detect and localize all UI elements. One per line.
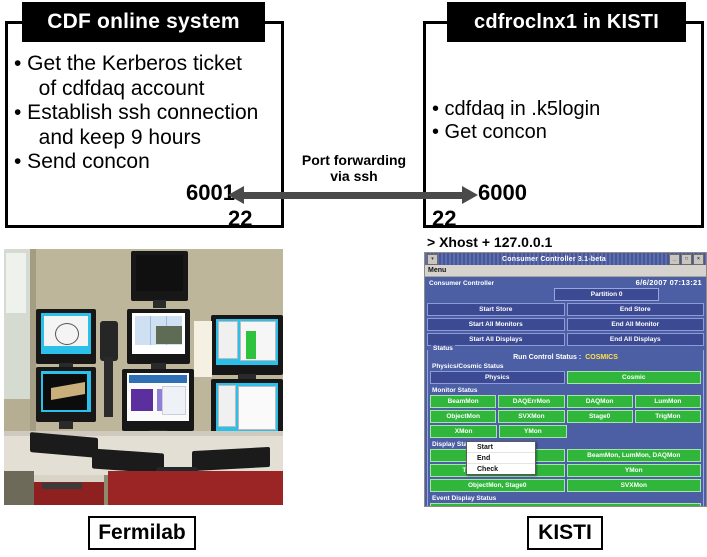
list-item: • Get concon	[432, 121, 692, 144]
right-ssh-port-number: 22	[432, 206, 456, 232]
monitor-grid-row: BeamMon DAQErrMon DAQMon LumMon	[430, 395, 701, 408]
end-all-monitor-button[interactable]: End All Monitor	[567, 318, 705, 331]
cdf-online-system-bullets: • Get the Kerberos ticket of cdfdaq acco…	[14, 52, 276, 175]
menubar[interactable]: Menu	[425, 265, 706, 277]
start-store-button[interactable]: Start Store	[427, 303, 565, 316]
cdfroclnx1-kisti-title: cdfroclnx1 in KISTI	[447, 2, 686, 42]
monitor-grid-empty	[569, 425, 634, 438]
physics-button[interactable]: Physics	[430, 371, 565, 384]
connector-arrow-shaft	[243, 192, 465, 199]
run-control-value: COSMICS	[585, 354, 618, 361]
cdfroclnx1-kisti-bullets: • cdfdaq in .k5login • Get concon	[432, 98, 692, 145]
evd-button[interactable]: EVD	[430, 503, 701, 507]
monitor-objectmon-button[interactable]: ObjectMon	[430, 410, 496, 423]
control-row-store: Start Store End Store	[427, 303, 704, 316]
partition-row: Partition 0	[427, 288, 704, 301]
left-ssh-port-number: 22	[228, 206, 252, 232]
window-menu-icon[interactable]: ▾	[427, 254, 438, 265]
connector-arrow-head-left-icon	[228, 186, 244, 204]
monitor-grid-row: ObjectMon SVXMon Stage0 TrigMon	[430, 410, 701, 423]
monitor-trigmon-button[interactable]: TrigMon	[635, 410, 701, 423]
partition-spacer	[427, 288, 554, 301]
window-title: Consumer Controller 3.1-beta	[440, 256, 668, 263]
control-room-photo	[4, 249, 283, 505]
monitor-xmon-button[interactable]: XMon	[430, 425, 497, 438]
caption-kisti: KISTI	[527, 516, 603, 550]
right-port-number: 6000	[478, 180, 527, 206]
port-forwarding-label: Port forwarding via ssh	[288, 152, 420, 184]
status-group-title: Status	[431, 345, 455, 352]
event-display-row: EVD	[430, 503, 701, 507]
display-beammon-lummon-daqmon-button[interactable]: BeamMon, LumMon, DAQMon	[567, 449, 702, 462]
connector-arrow-head-right-icon	[462, 186, 478, 204]
physics-cosmic-status-label: Physics/Cosmic Status	[430, 362, 701, 371]
event-display-status-label: Event Display Status	[430, 494, 701, 503]
list-item: • Establish ssh connection and keep 9 ho…	[14, 101, 276, 150]
physics-cosmic-row: Physics Cosmic	[430, 371, 701, 384]
control-row-displays: Start All Displays End All Displays	[427, 333, 704, 346]
monitor-lummon-button[interactable]: LumMon	[635, 395, 701, 408]
display-grid-row: ObjectMon, Stage0 SVXMon	[430, 479, 701, 492]
start-all-monitors-button[interactable]: Start All Monitors	[427, 318, 565, 331]
monitor-ymon-button[interactable]: YMon	[499, 425, 566, 438]
end-all-displays-button[interactable]: End All Displays	[567, 333, 705, 346]
monitor-grid-empty	[636, 425, 701, 438]
context-menu[interactable]: Start End Check	[466, 441, 536, 475]
caption-fermilab: Fermilab	[88, 516, 196, 550]
minimize-icon[interactable]: _	[669, 254, 680, 265]
list-item: • Get the Kerberos ticket of cdfdaq acco…	[14, 52, 276, 101]
context-menu-item-end[interactable]: End	[467, 453, 535, 464]
monitor-svxmon-button[interactable]: SVXMon	[498, 410, 564, 423]
end-store-button[interactable]: End Store	[567, 303, 705, 316]
monitor-status-label: Monitor Status	[430, 386, 701, 395]
xhost-command-text: > Xhost + 127.0.0.1	[427, 234, 552, 250]
list-item: • cdfdaq in .k5login	[432, 98, 692, 121]
display-svxmon-button[interactable]: SVXMon	[567, 479, 702, 492]
cdf-online-system-title: CDF online system	[22, 2, 265, 42]
context-menu-item-start[interactable]: Start	[467, 442, 535, 453]
run-control-label: Run Control Status :	[513, 354, 581, 361]
list-item: • Send concon	[14, 150, 276, 175]
control-row-monitors: Start All Monitors End All Monitor	[427, 318, 704, 331]
cosmic-button[interactable]: Cosmic	[567, 371, 702, 384]
monitor-daqmon-button[interactable]: DAQMon	[567, 395, 633, 408]
display-ymon-button[interactable]: YMon	[567, 464, 702, 477]
monitor-beammon-button[interactable]: BeamMon	[430, 395, 496, 408]
partition-button[interactable]: Partition 0	[554, 288, 658, 301]
monitor-stage0-button[interactable]: Stage0	[567, 410, 633, 423]
maximize-icon[interactable]: □	[681, 254, 692, 265]
consumer-controller-window[interactable]: ▾ Consumer Controller 3.1-beta _ □ × Men…	[424, 252, 707, 507]
status-group: Status Run Control Status :COSMICS Physi…	[427, 350, 704, 507]
window-titlebar[interactable]: ▾ Consumer Controller 3.1-beta _ □ ×	[425, 253, 706, 265]
close-icon[interactable]: ×	[693, 254, 704, 265]
display-objectmon-stage0-button[interactable]: ObjectMon, Stage0	[430, 479, 565, 492]
window-body: 6/6/2007 07:13:21 Consumer Controller Pa…	[425, 277, 706, 507]
monitor-grid: BeamMon DAQErrMon DAQMon LumMon ObjectMo…	[430, 395, 701, 438]
monitor-daqerrmon-button[interactable]: DAQErrMon	[498, 395, 564, 408]
run-control-status: Run Control Status :COSMICS	[430, 352, 701, 362]
context-menu-item-check[interactable]: Check	[467, 464, 535, 474]
menu-item-menu[interactable]: Menu	[428, 267, 446, 274]
monitor-grid-row: XMon YMon	[430, 425, 701, 438]
clock-display: 6/6/2007 07:13:21	[636, 278, 702, 287]
